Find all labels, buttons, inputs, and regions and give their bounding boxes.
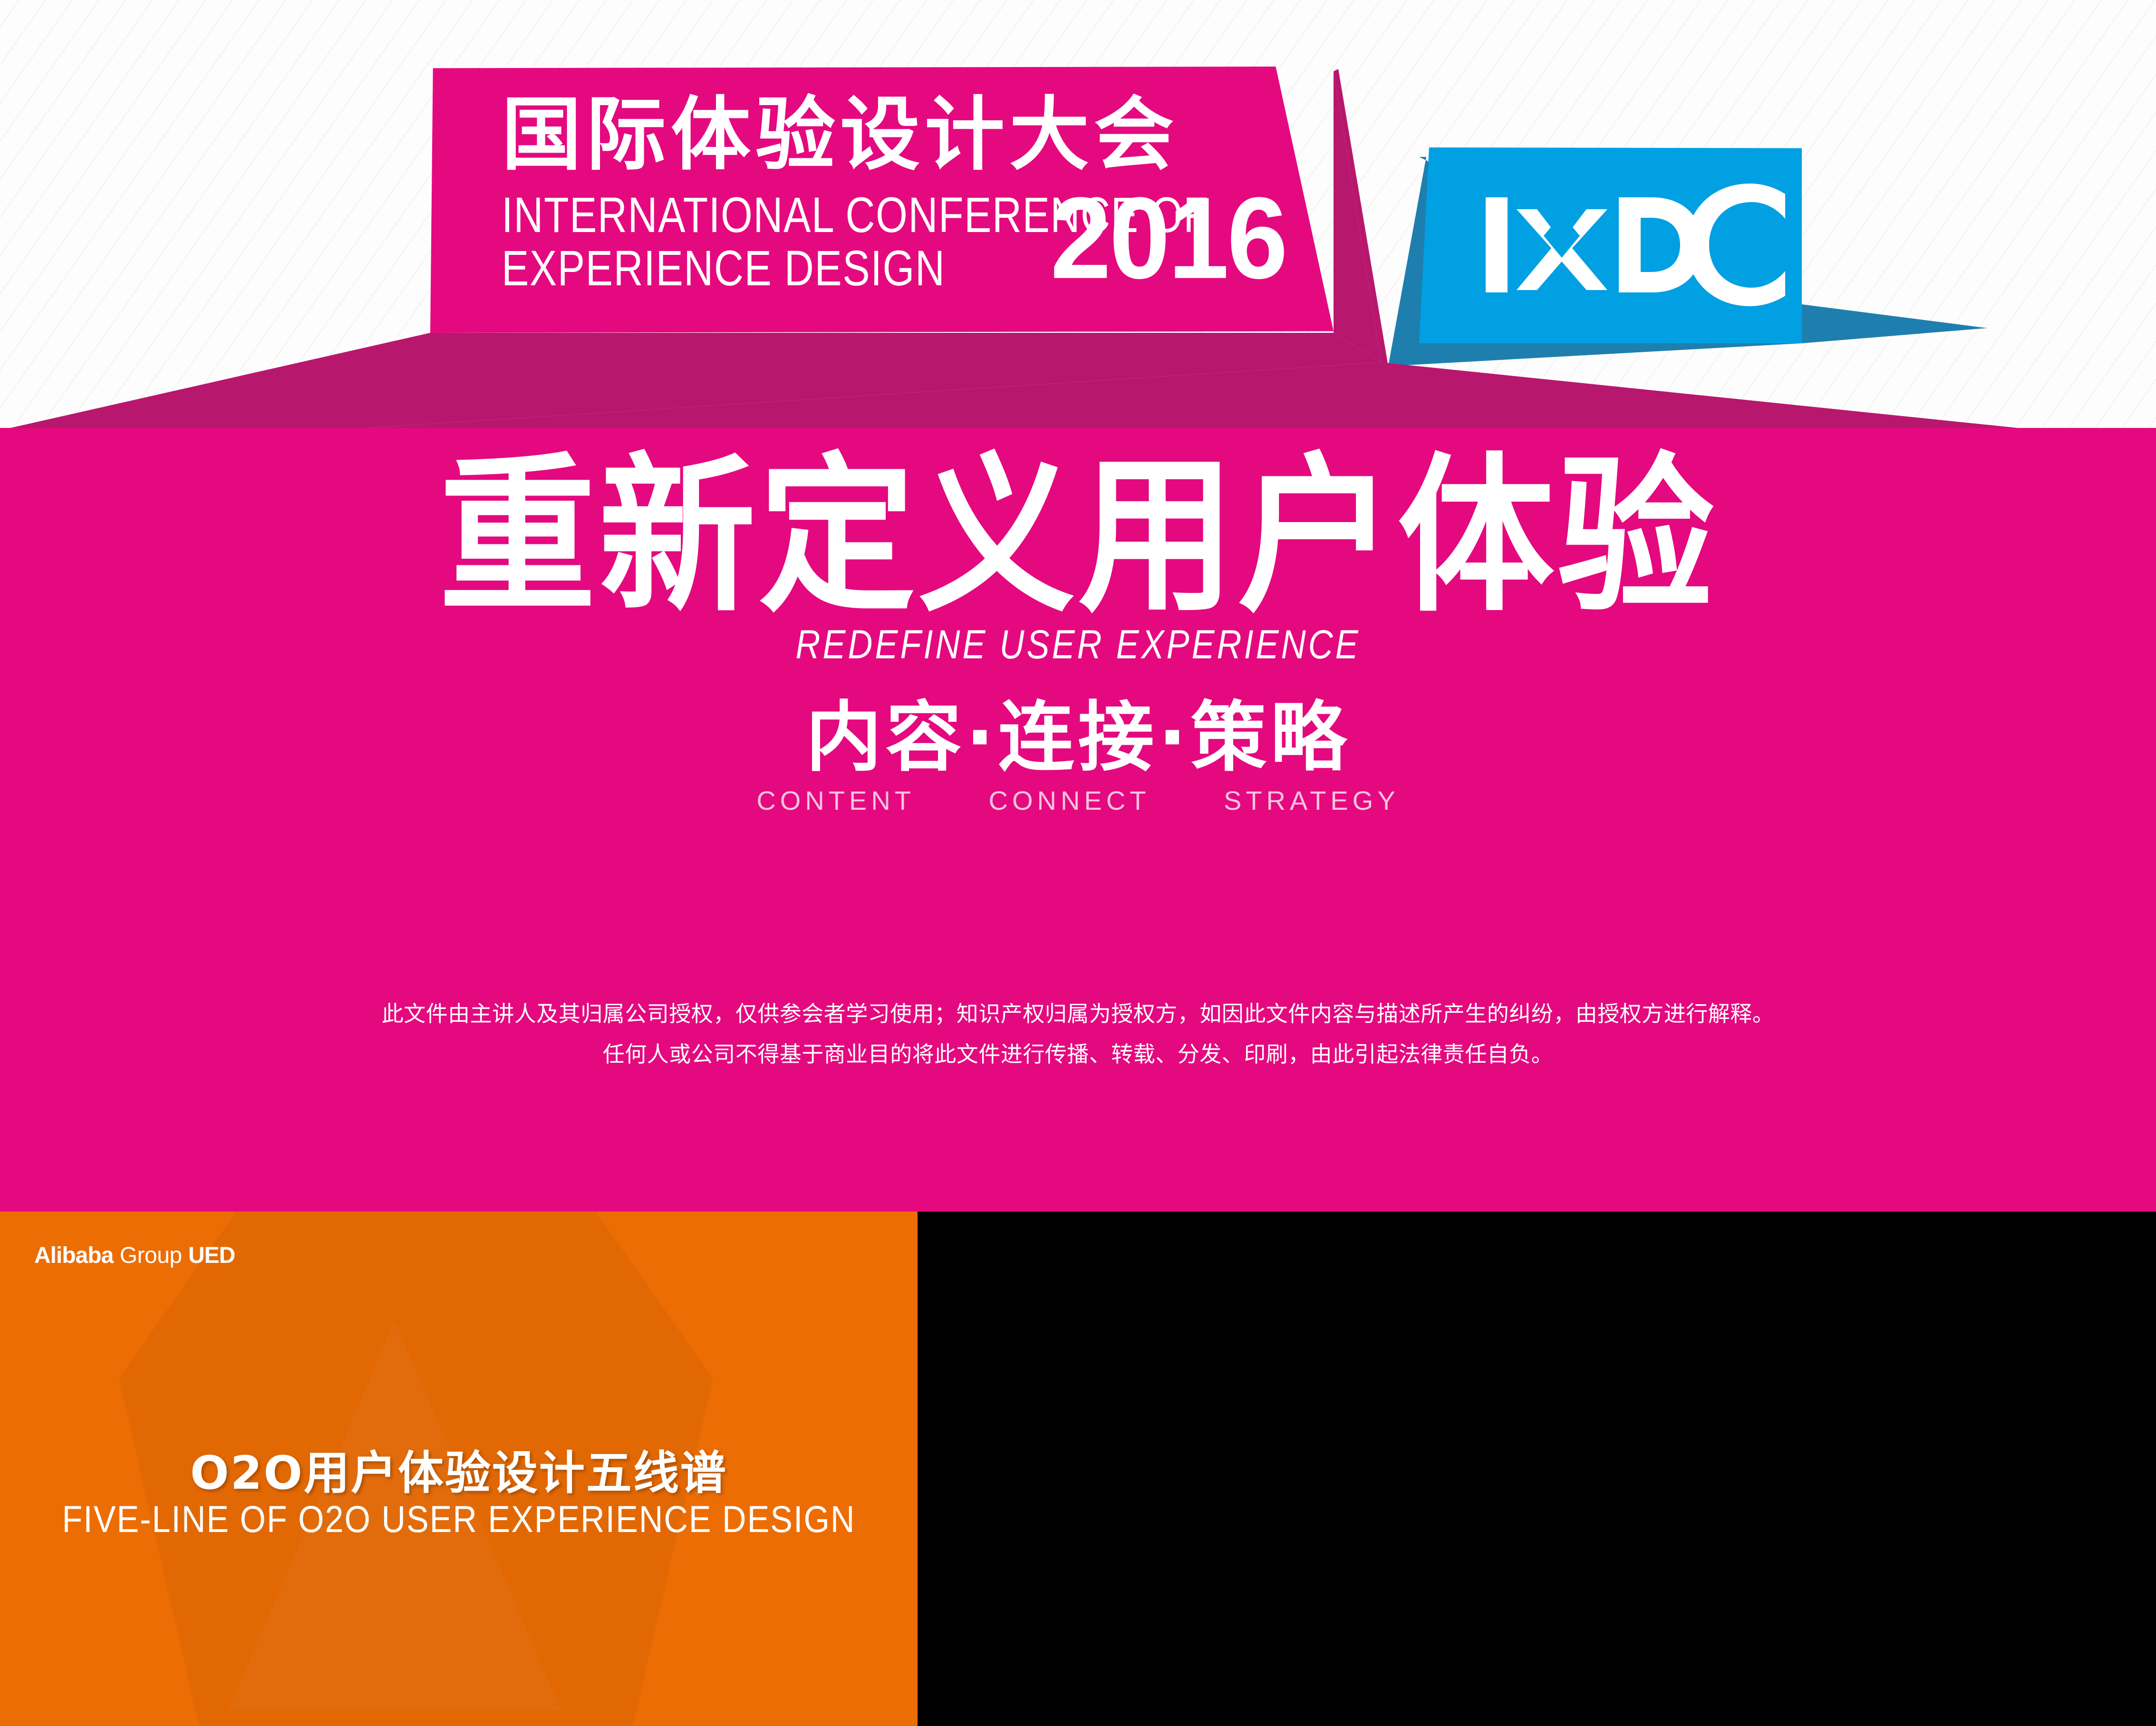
disclaimer-line-2: 任何人或公司不得基于商业目的将此文件进行传播、转载、分发、印刷，由此引起法律责任… bbox=[0, 1034, 2156, 1075]
hero-panel: 重新定义用户体验 REDEFINE USER EXPERIENCE 内容·连接·… bbox=[0, 428, 2156, 1212]
hero-title-en: REDEFINE USER EXPERIENCE bbox=[0, 621, 2156, 668]
group-wordmark: Group bbox=[120, 1243, 182, 1268]
conference-title-en-line2: EXPERIENCE DESIGN bbox=[502, 240, 946, 298]
alibaba-wordmark: Alibaba bbox=[34, 1243, 113, 1268]
hero-title-block: 重新定义用户体验 REDEFINE USER EXPERIENCE 内容·连接·… bbox=[0, 456, 2156, 816]
conference-title-en-block: INTERNATIONAL CONFERENCE OF EXPERIENCE D… bbox=[502, 184, 1281, 293]
conference-year: 2016 bbox=[1050, 180, 1286, 296]
disclaimer-line-1: 此文件由主讲人及其归属公司授权，仅供参会者学习使用；知识产权归属为授权方，如因此… bbox=[0, 994, 2156, 1034]
conference-title-cn: 国际体验设计大会 bbox=[502, 94, 1291, 175]
deck-title-cn: O2O用户体验设计五线谱 bbox=[0, 1436, 918, 1502]
hero-title-cn: 重新定义用户体验 bbox=[0, 450, 2156, 623]
copyright-disclaimer: 此文件由主讲人及其归属公司授权，仅供参会者学习使用；知识产权归属为授权方，如因此… bbox=[0, 994, 2156, 1075]
hero-subtitle-cn: 内容·连接·策略 bbox=[0, 698, 2156, 777]
hero-subtitle-en-connect: CONNECT bbox=[989, 785, 1151, 816]
hero-subtitle-en: CONTENT CONNECT STRATEGY bbox=[0, 785, 2156, 816]
ixdc-logo-tile bbox=[1419, 147, 1802, 343]
deck-subtitle-en: FIVE-LINE OF O2O USER EXPERIENCE DESIGN bbox=[0, 1498, 918, 1541]
hero-subtitle-en-strategy: STRATEGY bbox=[1224, 785, 1400, 816]
hero-subtitle-en-content: CONTENT bbox=[756, 785, 915, 816]
conference-banner: 国际体验设计大会 INTERNATIONAL CONFERENCE OF EXP… bbox=[430, 67, 1334, 333]
slide-cover: 国际体验设计大会 INTERNATIONAL CONFERENCE OF EXP… bbox=[0, 0, 2156, 1726]
ued-wordmark: UED bbox=[188, 1243, 235, 1268]
ixdc-logo-icon bbox=[1419, 147, 1802, 343]
alibaba-group-ued-logo: Alibaba Group UED bbox=[34, 1242, 235, 1269]
